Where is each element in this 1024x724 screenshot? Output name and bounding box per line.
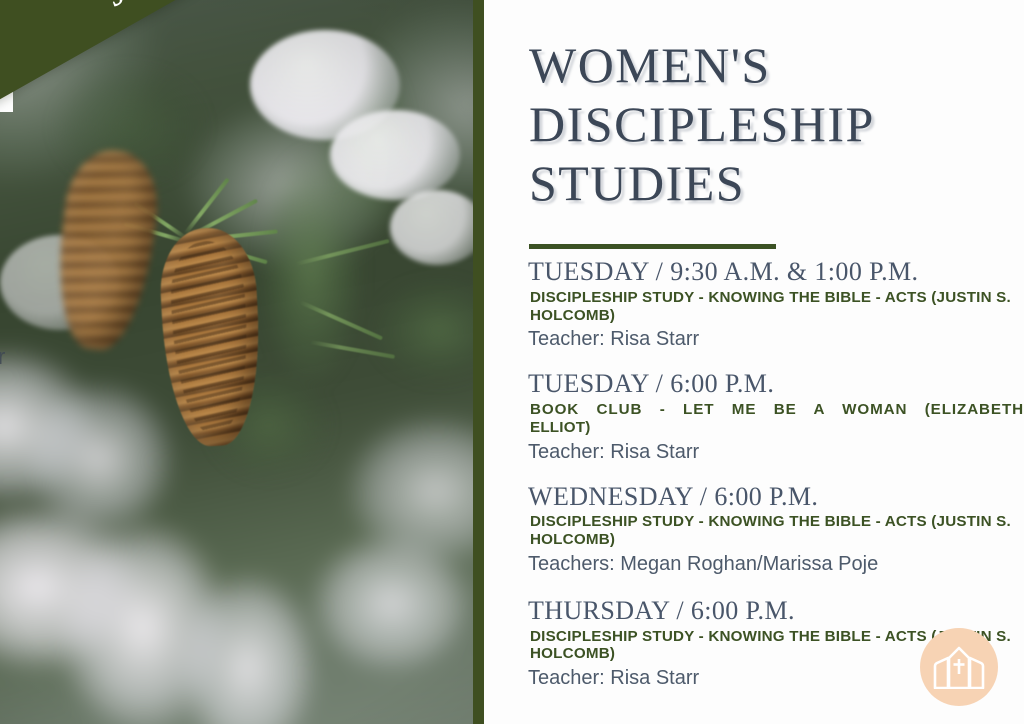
vertical-divider-bar (473, 0, 484, 724)
page-title: WOMEN'S DISCIPLESHIP STUDIES (529, 36, 999, 213)
edge-glyph-artifact: r (0, 344, 4, 370)
entry-daytime: WEDNESDAY / 6:00 P.M. (528, 481, 1024, 513)
entry-study-title-line-1: BOOK CLUB - LET ME BE A WOMAN (ELIZABETH (530, 401, 1024, 418)
title-line-2: DISCIPLESHIP (529, 95, 999, 154)
schedule-entry: TUESDAY / 9:30 A.M. & 1:00 P.M. DISCIPLE… (528, 256, 1024, 352)
slide-canvas: r Starting in January WOMEN'S DISCIPLESH… (0, 0, 1024, 724)
title-line-3: STUDIES (529, 154, 999, 213)
entry-study-title: DISCIPLESHIP STUDY - KNOWING THE BIBLE -… (528, 289, 1024, 325)
photo-vignette (0, 0, 473, 724)
entry-daytime: TUESDAY / 9:30 A.M. & 1:00 P.M. (528, 256, 1024, 288)
entry-teacher: Teacher: Risa Starr (528, 326, 1024, 352)
schedule-entry: TUESDAY / 6:00 P.M. BOOK CLUB - LET ME B… (528, 368, 1024, 464)
church-logo (920, 628, 998, 706)
entry-study-title-line-2: ELLIOT) (530, 419, 1024, 437)
entry-teacher: Teacher: Risa Starr (528, 439, 1024, 465)
entry-study-title: DISCIPLESHIP STUDY - KNOWING THE BIBLE -… (528, 513, 1024, 549)
entry-daytime: TUESDAY / 6:00 P.M. (528, 368, 1024, 400)
church-building-icon (933, 645, 985, 689)
winter-pinecone-photo: r Starting in January (0, 0, 473, 724)
entry-teacher: Teachers: Megan Roghan/Marissa Poje (528, 551, 1024, 577)
title-line-1: WOMEN'S (529, 36, 999, 95)
schedule-entry: WEDNESDAY / 6:00 P.M. DISCIPLESHIP STUDY… (528, 481, 1024, 577)
title-underline-rule (529, 244, 776, 249)
entry-daytime: THURSDAY / 6:00 P.M. (528, 595, 1024, 627)
entry-study-title: BOOK CLUB - LET ME BE A WOMAN (ELIZABETH… (528, 401, 1024, 437)
schedule-list: TUESDAY / 9:30 A.M. & 1:00 P.M. DISCIPLE… (528, 256, 1024, 691)
content-column: WOMEN'S DISCIPLESHIP STUDIES TUESDAY / 9… (484, 0, 1024, 724)
